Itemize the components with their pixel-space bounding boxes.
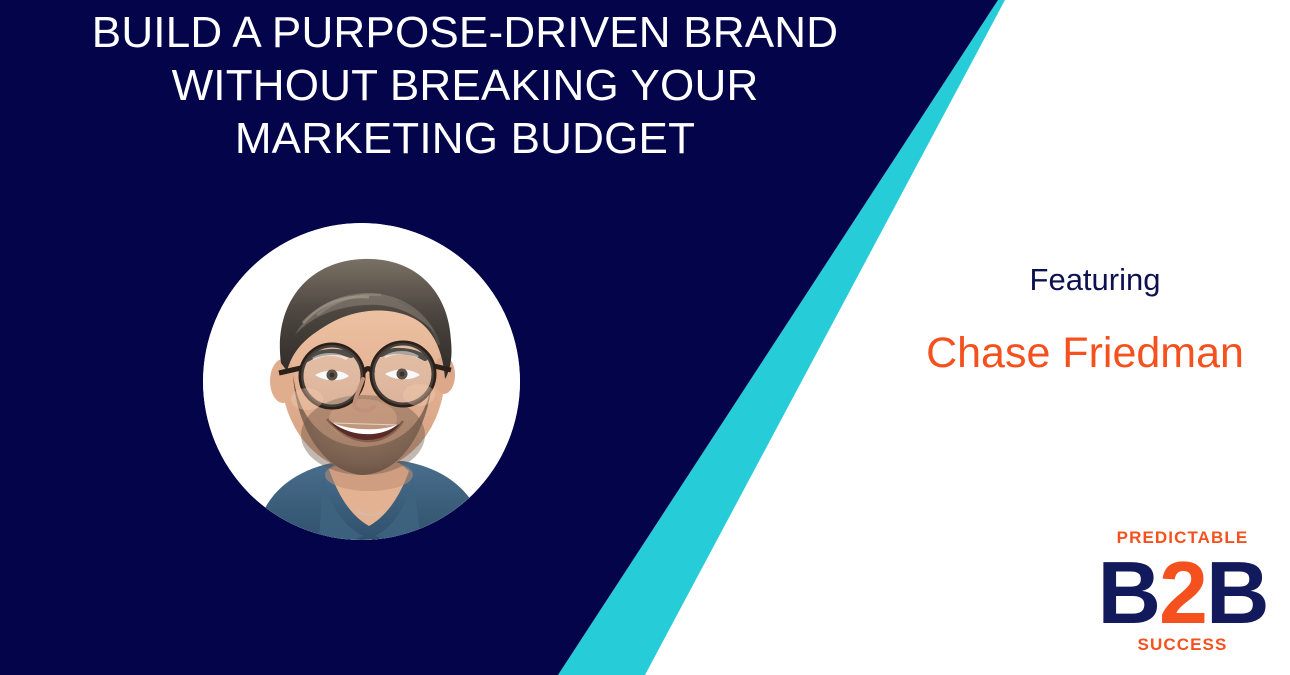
logo-letter-b-left: B <box>1097 543 1159 642</box>
speaker-avatar <box>203 223 520 540</box>
page-title: BUILD A PURPOSE-DRIVEN BRAND WITHOUT BRE… <box>0 6 930 165</box>
speaker-portrait-image <box>203 223 520 540</box>
featuring-label: Featuring <box>900 262 1290 298</box>
brand-logo: PREDICTABLE B2B SUCCESS <box>1085 528 1280 673</box>
logo-letter-b-right: B <box>1206 543 1268 642</box>
webinar-title-slide: BUILD A PURPOSE-DRIVEN BRAND WITHOUT BRE… <box>0 0 1290 675</box>
logo-numeral-two: 2 <box>1159 543 1206 642</box>
logo-b2b-wordmark: B2B <box>1085 547 1280 639</box>
speaker-name: Chase Friedman <box>880 327 1290 379</box>
